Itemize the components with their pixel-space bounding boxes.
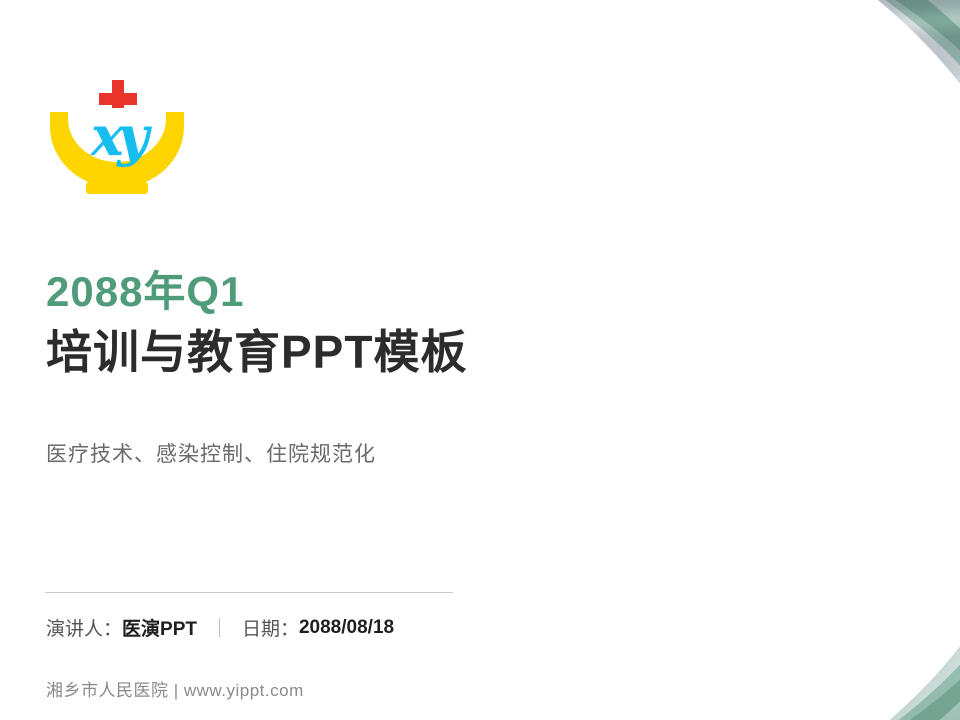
- presentation-slide: xy 2088年Q1 培训与教育PPT模板 医疗技术、感染控制、住院规范化 演讲…: [0, 0, 960, 720]
- divider: [45, 592, 453, 593]
- page-title-line2: 培训与教育PPT模板: [46, 324, 566, 380]
- presenter-label: 演讲人：: [46, 614, 122, 641]
- subtitle: 医疗技术、感染控制、住院规范化: [46, 438, 376, 468]
- title-block: 2088年Q1 培训与教育PPT模板: [46, 266, 566, 380]
- meta-row: 演讲人： 医演PPT 日期： 2088/08/18: [46, 614, 394, 641]
- logo-foot: [86, 182, 148, 194]
- presenter-value: 医演PPT: [122, 614, 197, 641]
- date-label: 日期：: [242, 614, 299, 641]
- date-value: 2088/08/18: [299, 617, 394, 639]
- logo-monogram: xy: [70, 108, 164, 166]
- page-title-line1: 2088年Q1: [46, 266, 566, 318]
- meta-separator: [219, 618, 220, 637]
- hospital-logo: xy: [46, 78, 186, 193]
- footer-text: 湘乡市人民医院 | www.yippt.com: [46, 676, 304, 701]
